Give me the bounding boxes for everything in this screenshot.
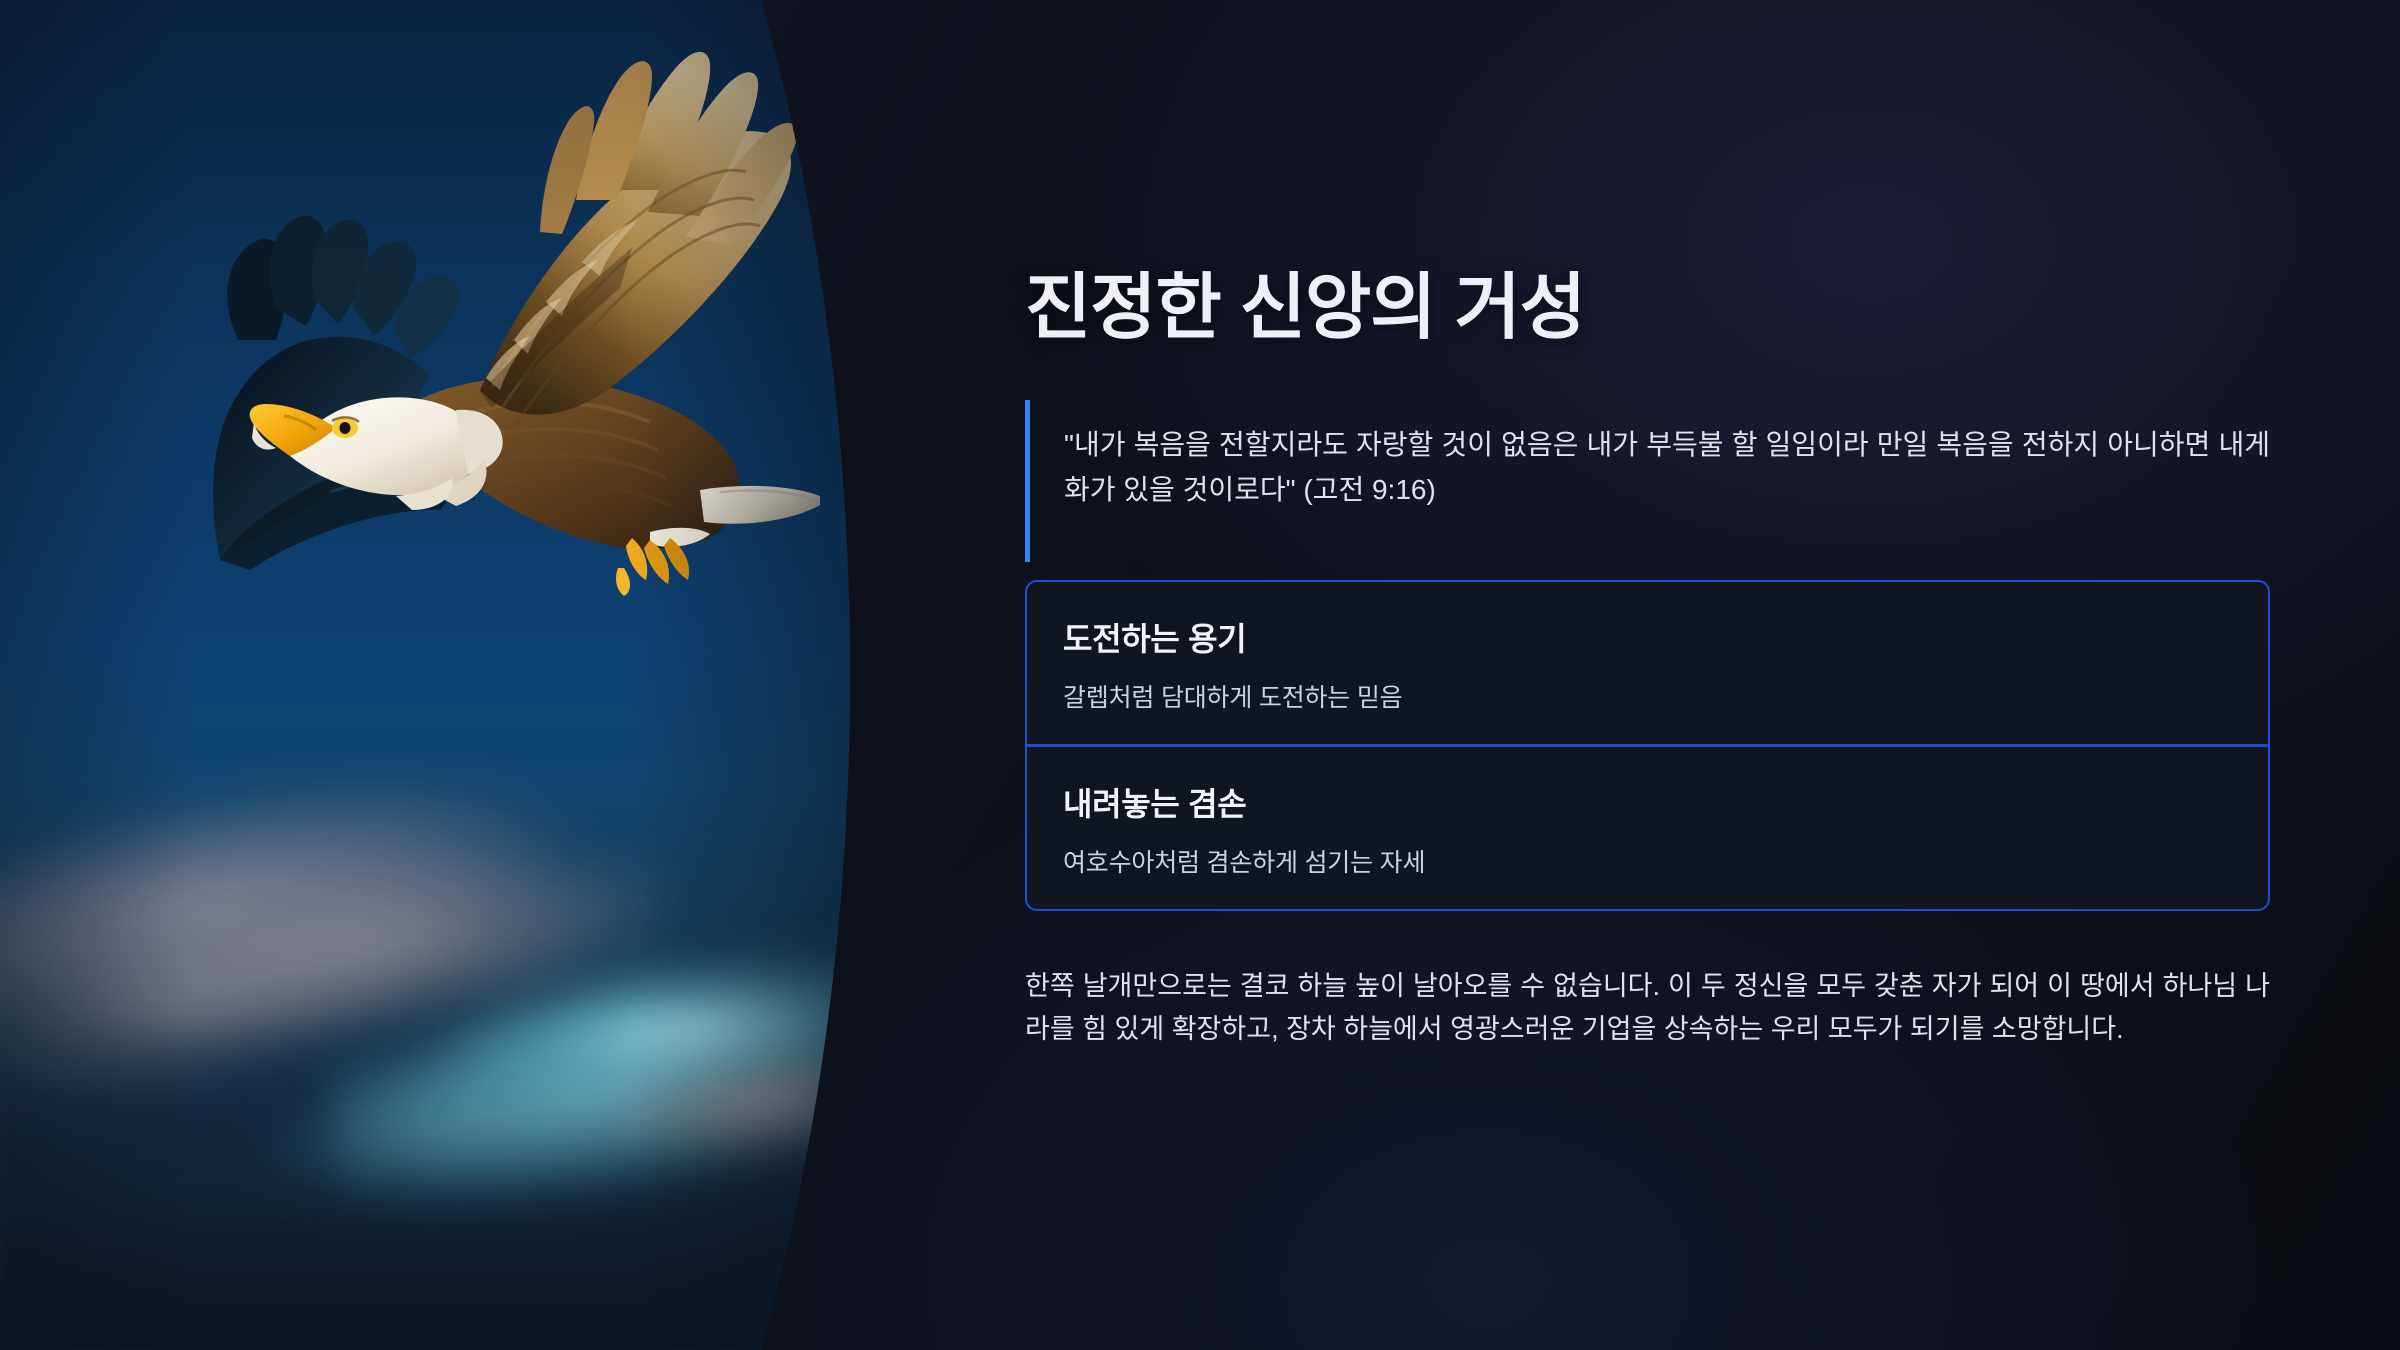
card-title: 도전하는 용기 bbox=[1063, 614, 2232, 660]
card-title: 내려놓는 겸손 bbox=[1063, 779, 2232, 825]
horizon-haze bbox=[0, 1020, 880, 1350]
content-column: 진정한 신앙의 거성 "내가 복음을 전할지라도 자랑할 것이 없음은 내가 부… bbox=[1025, 0, 2270, 1350]
card-description: 여호수아처럼 겸손하게 섬기는 자세 bbox=[1063, 843, 2232, 879]
scripture-quote-block: "내가 복음을 전할지라도 자랑할 것이 없음은 내가 부득불 할 일임이라 만… bbox=[1025, 400, 2270, 562]
card-item[interactable]: 내려놓는 겸손 여호수아처럼 겸손하게 섬기는 자세 bbox=[1027, 744, 2268, 909]
closing-paragraph: 한쪽 날개만으로는 결코 하늘 높이 날아오를 수 없습니다. 이 두 정신을 … bbox=[1025, 965, 2270, 1051]
card-item[interactable]: 도전하는 용기 갈렙처럼 담대하게 도전하는 믿음 bbox=[1027, 582, 2268, 744]
card-description: 갈렙처럼 담대하게 도전하는 믿음 bbox=[1063, 678, 2232, 714]
eagle-near-wing bbox=[480, 52, 797, 424]
page-title: 진정한 신앙의 거성 bbox=[1025, 248, 1585, 353]
slide-root: 진정한 신앙의 거성 "내가 복음을 전할지라도 자랑할 것이 없음은 내가 부… bbox=[0, 0, 2400, 1350]
bald-eagle-icon bbox=[180, 40, 820, 660]
principle-cards: 도전하는 용기 갈렙처럼 담대하게 도전하는 믿음 내려놓는 겸손 여호수아처럼… bbox=[1025, 580, 2270, 911]
eagle-photo-panel bbox=[0, 0, 880, 1350]
scripture-quote-text: "내가 복음을 전할지라도 자랑할 것이 없음은 내가 부득불 할 일임이라 만… bbox=[1064, 400, 2270, 513]
